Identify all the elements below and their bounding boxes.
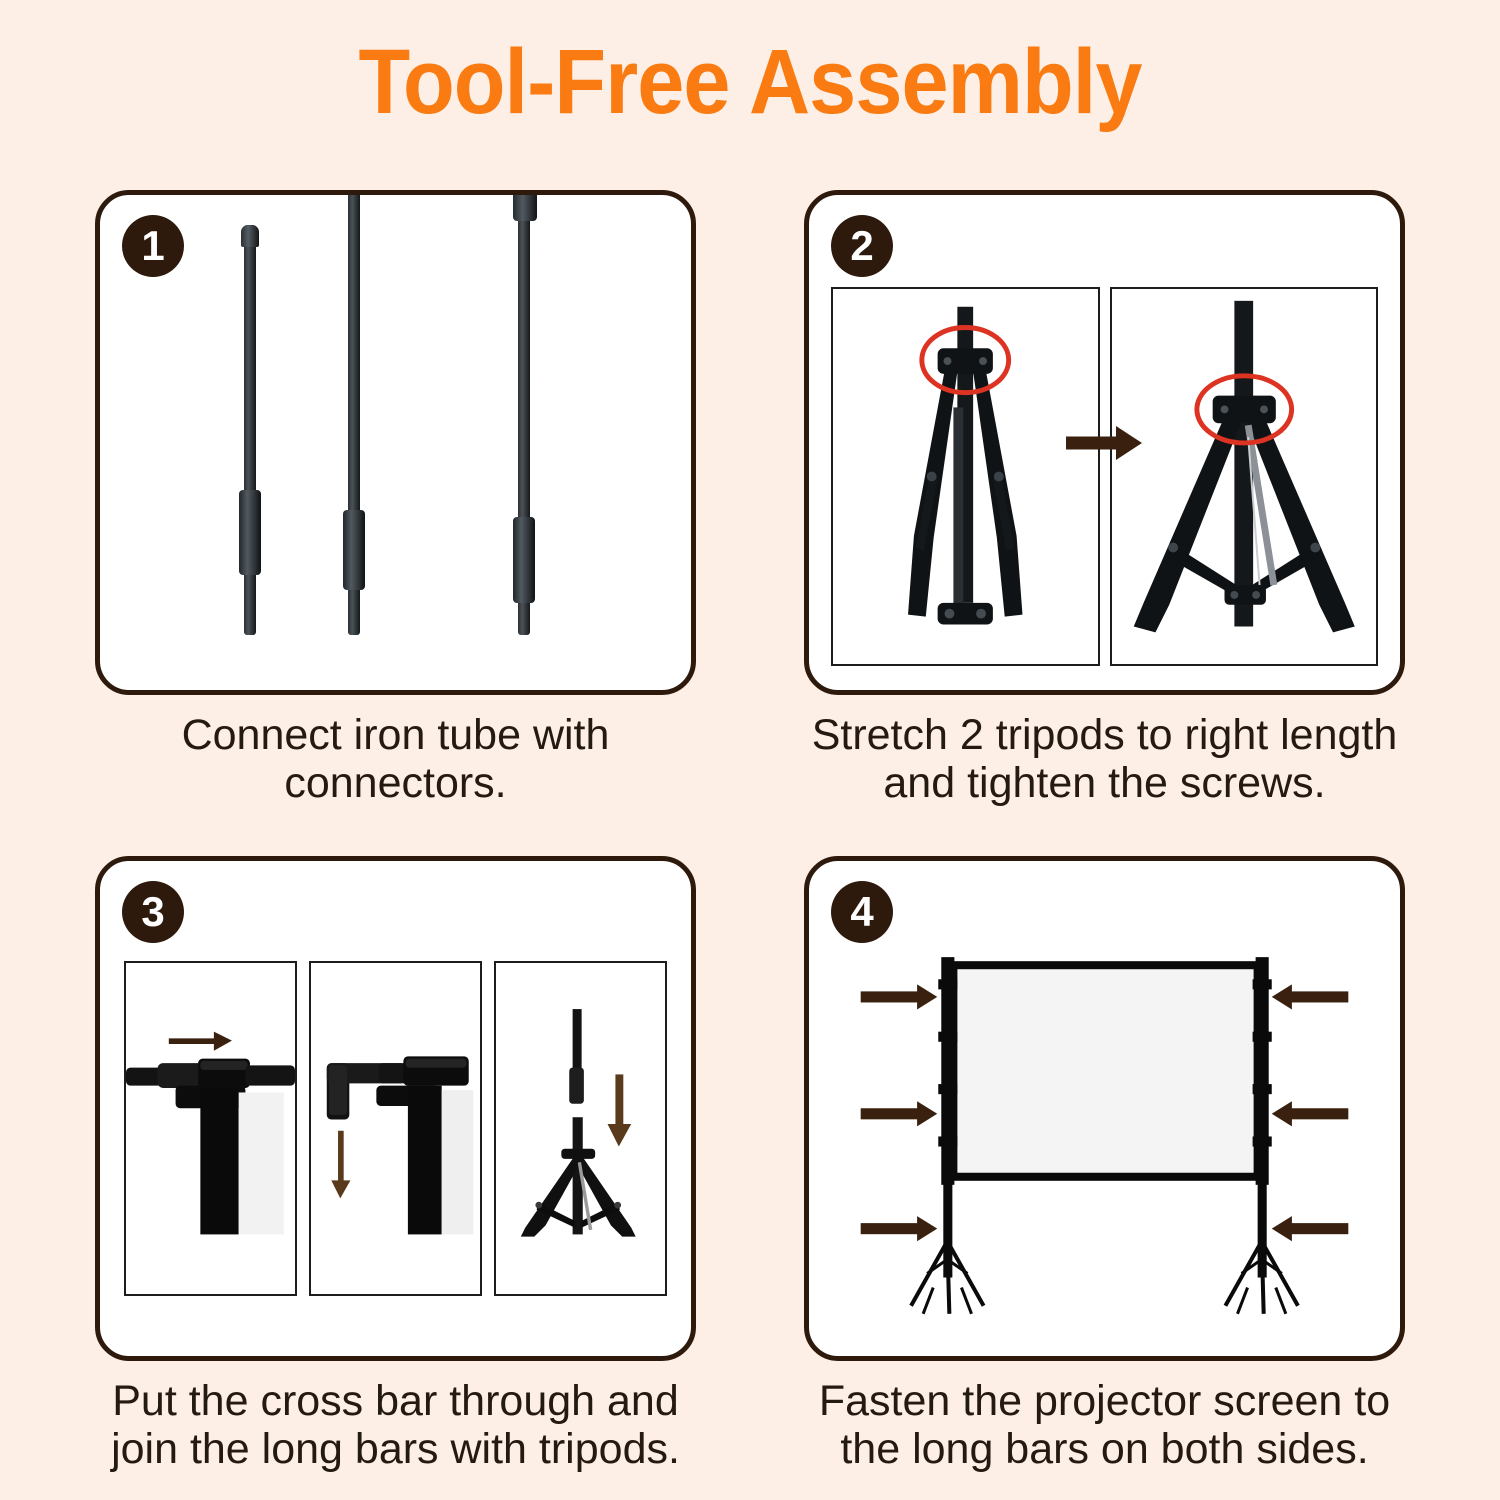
tripod-extended-frame xyxy=(1110,287,1379,666)
step-4-caption: Fasten the projector screen to the long … xyxy=(804,1377,1405,1473)
arrow-right-icon xyxy=(861,1101,938,1126)
step-3-subframes xyxy=(100,861,691,1356)
tripod-collapsed-frame xyxy=(831,287,1100,666)
iron-tube-with-elbow-connector-icon xyxy=(445,190,555,635)
step-2-badge: 2 xyxy=(831,215,893,277)
step-2-card: 2 xyxy=(804,190,1405,695)
iron-tubes-illustration xyxy=(100,195,691,690)
step-3: 3 xyxy=(95,856,696,1490)
lower-bar-into-tripod-frame xyxy=(494,961,667,1296)
step-1-card: 1 xyxy=(95,190,696,695)
step-1: 1 xyxy=(95,190,696,824)
step-2-subframes xyxy=(809,195,1400,690)
arrow-left-icon xyxy=(1272,1216,1349,1241)
assembled-screen-illustration xyxy=(809,861,1400,1356)
steps-grid: 1 xyxy=(0,190,1500,1490)
arrow-down-icon xyxy=(608,1074,632,1146)
slide-cross-bar-icon xyxy=(126,963,295,1294)
arrow-right-icon xyxy=(169,1032,232,1051)
arrow-right-icon xyxy=(861,1216,938,1241)
tripod-collapsed-icon xyxy=(833,289,1098,664)
slide-cross-bar-frame xyxy=(124,961,297,1296)
step-3-caption: Put the cross bar through and join the l… xyxy=(95,1377,696,1473)
step-1-caption: Connect iron tube with connectors. xyxy=(95,711,696,807)
arrow-left-icon xyxy=(1272,984,1349,1009)
lower-bar-into-tripod-icon xyxy=(496,963,665,1294)
step-4: 4 xyxy=(804,856,1405,1490)
page-title: Tool-Free Assembly xyxy=(60,34,1440,131)
attach-elbow-connector-frame xyxy=(309,961,482,1296)
assembly-instruction-page: Tool-Free Assembly 1 xyxy=(0,0,1500,1500)
step-2-caption: Stretch 2 tripods to right length and ti… xyxy=(804,711,1405,807)
arrow-left-icon xyxy=(1272,1101,1349,1126)
step-3-card: 3 xyxy=(95,856,696,1361)
step-4-badge: 4 xyxy=(831,881,893,943)
arrow-right-icon xyxy=(861,984,938,1009)
iron-tube-with-connector-icon xyxy=(341,190,367,635)
plain-iron-tube-icon xyxy=(237,225,263,635)
tripod-extended-icon xyxy=(1112,289,1377,664)
arrow-down-icon xyxy=(331,1131,350,1199)
assembled-projector-screen-icon xyxy=(819,939,1390,1342)
attach-elbow-connector-icon xyxy=(311,963,480,1294)
step-2: 2 xyxy=(804,190,1405,824)
transition-arrow-right-icon xyxy=(1066,423,1144,463)
step-3-badge: 3 xyxy=(122,881,184,943)
step-1-badge: 1 xyxy=(122,215,184,277)
step-4-card: 4 xyxy=(804,856,1405,1361)
